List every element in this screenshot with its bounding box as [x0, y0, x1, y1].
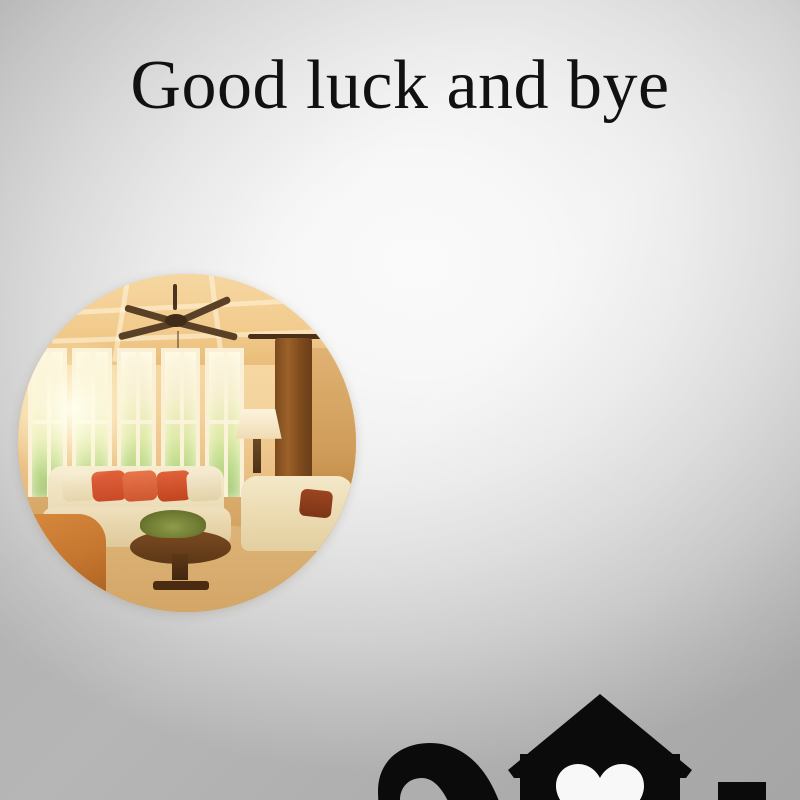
coffee-table-foot: [153, 581, 209, 590]
throw-pillow: [299, 488, 334, 518]
lifestyle-photo: [18, 274, 356, 612]
loveseat: [241, 476, 353, 550]
floral-centerpiece: [140, 510, 206, 538]
living-room-scene: [18, 274, 356, 612]
ceiling-fan-rod: [173, 284, 177, 310]
promo-image: Good luck and bye: [0, 0, 800, 800]
table-lamp-base: [253, 439, 261, 473]
block-large: [718, 782, 766, 800]
table-lamp-shade: [236, 409, 282, 439]
throw-pillow: [186, 470, 222, 502]
throw-pillow: [122, 470, 158, 502]
armchair: [18, 514, 106, 605]
page-title: Good luck and bye: [0, 48, 800, 124]
key-holder-product: [370, 686, 782, 800]
coffee-table-stem: [172, 554, 188, 580]
